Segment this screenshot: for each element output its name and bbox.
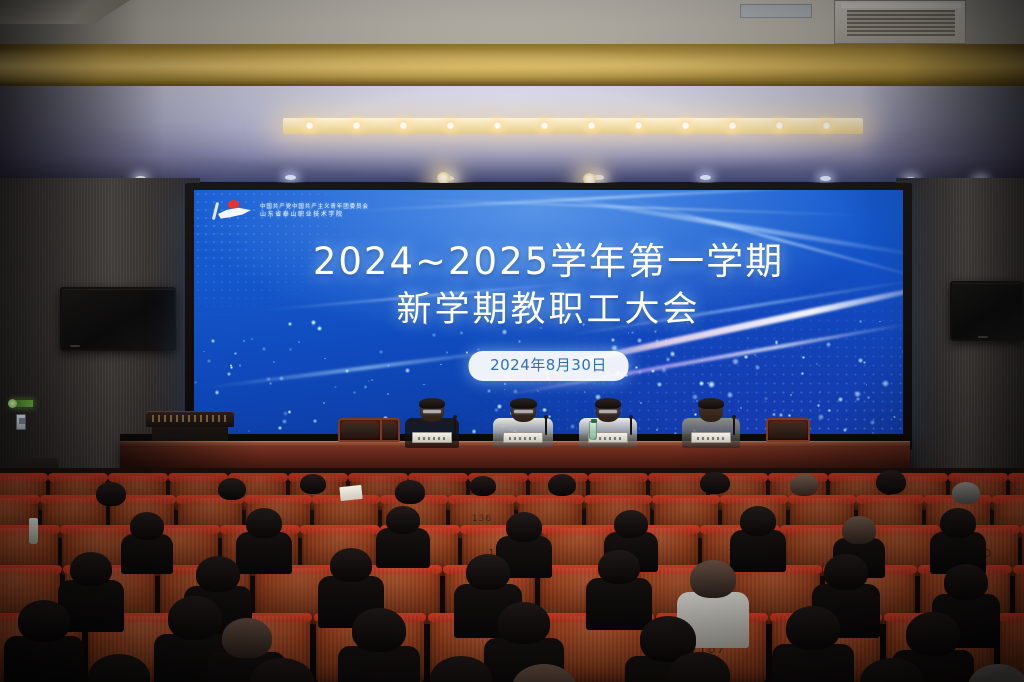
audience-member-head (218, 478, 246, 500)
water-bottle (589, 421, 597, 440)
bottle-cap (591, 419, 597, 423)
audience-member-head (940, 508, 976, 538)
audience-member-head (130, 512, 164, 540)
wall-monitor-left (60, 287, 176, 351)
microphone (545, 418, 547, 435)
light-switch-plate[interactable] (16, 414, 26, 430)
logo-swoosh (218, 207, 251, 219)
stage-chair (338, 418, 382, 442)
microphone (733, 418, 735, 435)
cove-light-dot (540, 121, 549, 130)
cove-light-dot (446, 121, 455, 130)
ceiling-downlight (820, 176, 831, 181)
ac-lip (841, 3, 961, 8)
audience-member-head (700, 472, 730, 494)
cove-light-dot (775, 121, 784, 130)
stage-chair-pad (771, 423, 805, 437)
audience-member-head (395, 480, 425, 504)
audience-member-head (690, 560, 736, 598)
panelist-hair (510, 398, 537, 409)
ceiling-warm-light-band (0, 44, 1024, 88)
logo-text-block: 中国共产党中国共产主义青年团委员会 山东省泰山职业技术学院 (260, 204, 369, 218)
audience-member-head (790, 474, 818, 496)
cove-light-dot (305, 121, 314, 130)
cove-light-dot (822, 121, 831, 130)
audience-seating-area: 136138140136138140140187 (0, 468, 1024, 682)
logo-sun-dot (228, 200, 239, 209)
institution-logo: 中国共产党中国共产主义青年团委员会 山东省泰山职业技术学院 (214, 200, 369, 222)
logo-line-1: 中国共产党中国共产主义青年团委员会 (260, 204, 369, 211)
audience-member-head (300, 474, 326, 494)
audience-member-head (168, 596, 222, 640)
ceiling-diffuser-slot (740, 4, 812, 18)
microphone (630, 418, 632, 435)
audience-member-torso (586, 578, 652, 630)
screen-title-block: 2024~2025学年第一学期 新学期教职工大会 (194, 238, 903, 334)
ceiling-main-plane (0, 86, 1024, 182)
audience-member-head (466, 554, 510, 590)
audience-member-head (70, 552, 112, 586)
panelist-glasses (514, 410, 533, 413)
panelist-hair (698, 398, 724, 409)
audience-member-head (824, 554, 868, 590)
audience-member-head (740, 506, 776, 536)
air-conditioner-unit (834, 0, 966, 44)
screen-date-badge: 2024年8月30日 (468, 351, 629, 381)
audience-member-head (944, 564, 988, 600)
logo-mark-icon (214, 200, 254, 222)
cove-light-dot (587, 121, 596, 130)
panelist-nameplate (503, 432, 543, 443)
stage-chair-pad (343, 423, 377, 437)
audience-member-head (842, 516, 876, 544)
audience-member-head (330, 548, 372, 582)
auditorium-photo: 中国共产党中国共产主义青年团委员会 山东省泰山职业技术学院 2024~2025学… (0, 0, 1024, 682)
paper-sheet (339, 485, 362, 501)
logo-line-2: 山东省泰山职业技术学院 (260, 212, 369, 219)
microphone (454, 418, 456, 435)
audience-member-head (470, 476, 496, 496)
seat-number: 136 (450, 514, 514, 524)
screen-title-line-2: 新学期教职工大会 (194, 286, 903, 334)
audience-member-torso (121, 534, 173, 574)
audience-member-head (246, 508, 282, 538)
cove-light-dot (352, 121, 361, 130)
audience-member-head (498, 602, 550, 644)
audience-member-head (548, 474, 576, 496)
monitor-brand-nub (978, 336, 988, 338)
lectern-top (146, 411, 234, 427)
cove-light-strip (283, 118, 863, 134)
exit-sign-icon (10, 399, 34, 408)
ceiling-downlight (700, 175, 711, 180)
cove-light-dot (728, 121, 737, 130)
audience-member-torso (376, 528, 430, 568)
cove-light-dot (493, 121, 502, 130)
cove-light-dot (681, 121, 690, 130)
audience-member-head (386, 506, 420, 534)
cove-light-dot (634, 121, 643, 130)
audience-member-head (96, 482, 126, 506)
audience-member-torso (730, 530, 786, 572)
monitor-brand-nub (70, 345, 80, 347)
stage-chair (766, 418, 810, 442)
audience-member-head (598, 550, 640, 584)
audience-member-head (196, 556, 240, 592)
exit-sign-bulb (8, 399, 17, 408)
cove-light-dot (399, 121, 408, 130)
audience-member-head (786, 606, 840, 650)
ac-grille (847, 10, 955, 36)
screen-title-line-1: 2024~2025学年第一学期 (194, 238, 903, 286)
audience-member-head (506, 512, 542, 542)
panelist-glasses (423, 410, 441, 413)
ceiling-downlight (285, 175, 296, 180)
audience-member-head (18, 600, 70, 642)
audience-member-head (352, 608, 406, 652)
wall-right (896, 178, 1024, 518)
audience-member-torso (4, 636, 84, 682)
panelist-hair (595, 398, 621, 409)
audience-member-head (906, 612, 960, 656)
panelist-glasses (599, 410, 617, 413)
panelist-nameplate (691, 432, 731, 443)
audience-member-head (222, 618, 272, 658)
wall-monitor-right (950, 281, 1024, 341)
panelist-hair (419, 398, 445, 409)
audience-member-head (614, 510, 648, 538)
audience-member-torso (236, 532, 292, 574)
audience-member-head (876, 470, 906, 494)
audience-member-head (952, 482, 980, 504)
panelist-nameplate (412, 432, 452, 443)
water-bottle (29, 518, 38, 544)
